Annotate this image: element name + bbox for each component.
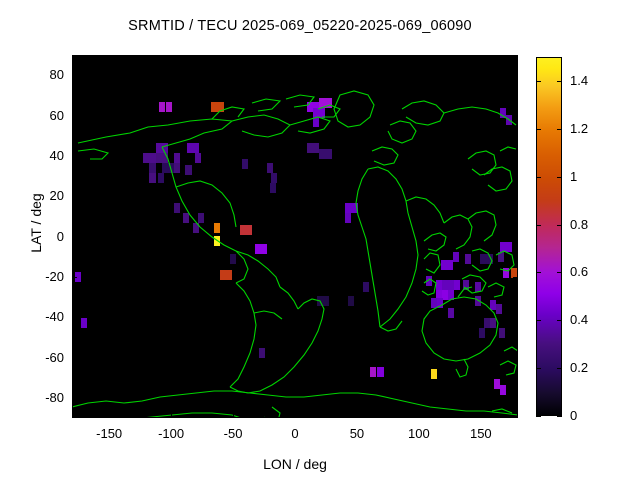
x-tick [171,413,172,418]
y-tick [72,317,77,318]
colorbar-tick [536,177,541,178]
y-tick [513,116,518,117]
y-tick [513,277,518,278]
y-tick [513,317,518,318]
y-tick [513,358,518,359]
colorbar-tick [536,81,541,82]
x-tick [295,413,296,418]
y-tick [72,116,77,117]
colorbar-tick-label: 0.2 [570,360,588,375]
colorbar-tick [536,416,541,417]
y-tick-label: -40 [18,309,64,324]
y-tick-label: 20 [18,188,64,203]
colorbar-tick [557,177,562,178]
colorbar-tick [557,81,562,82]
y-tick [513,75,518,76]
y-tick [72,156,77,157]
colorbar-tick [557,225,562,226]
y-tick [513,156,518,157]
coastline-layer [72,55,518,418]
x-tick [109,413,110,418]
colorbar-tick-label: 0.6 [570,264,588,279]
colorbar-tick-label: 0.4 [570,312,588,327]
y-tick [513,196,518,197]
colorbar-gradient [536,57,562,416]
chart-title: SRMTID / TECU 2025-069_05220-2025-069_06… [0,18,600,34]
y-tick [513,398,518,399]
x-tick [419,55,420,60]
y-tick [72,358,77,359]
colorbar-tick [557,272,562,273]
colorbar-tick [536,225,541,226]
colorbar-tick [536,320,541,321]
colorbar-tick-label: 1.2 [570,121,588,136]
colorbar-tick-label: 0 [570,408,577,423]
x-tick-label: 50 [327,426,387,441]
colorbar-tick-label: 1.4 [570,73,588,88]
colorbar-tick [536,272,541,273]
y-tick-label: -80 [18,390,64,405]
x-tick-label: 100 [389,426,449,441]
map-plot-area [72,55,518,418]
x-tick [295,55,296,60]
y-tick-label: 40 [18,148,64,163]
colorbar-tick [557,320,562,321]
y-tick [72,75,77,76]
figure-root: SRMTID / TECU 2025-069_05220-2025-069_06… [0,0,640,480]
colorbar-tick-label: 1 [570,169,577,184]
y-axis-title: LAT / deg [28,163,44,283]
x-axis-title: LON / deg [72,456,518,472]
y-tick-label: 80 [18,67,64,82]
y-tick [72,398,77,399]
colorbar-tick [536,129,541,130]
x-tick [481,413,482,418]
colorbar-tick [557,368,562,369]
y-tick-label: -20 [18,269,64,284]
x-tick [357,55,358,60]
x-tick-label: -150 [79,426,139,441]
y-tick [72,237,77,238]
colorbar-tick [536,368,541,369]
x-tick [171,55,172,60]
y-tick [72,277,77,278]
x-tick [233,55,234,60]
y-tick-label: 0 [18,229,64,244]
y-tick-label: -60 [18,350,64,365]
y-tick-label: 60 [18,108,64,123]
colorbar-tick-label: 0.8 [570,217,588,232]
x-tick-label: 0 [265,426,325,441]
x-tick [481,55,482,60]
y-tick [513,237,518,238]
x-tick-label: -100 [141,426,201,441]
x-tick [109,55,110,60]
colorbar-tick [557,129,562,130]
x-tick [357,413,358,418]
y-tick [72,196,77,197]
x-tick-label: 150 [451,426,511,441]
colorbar-tick [557,416,562,417]
x-tick [233,413,234,418]
x-tick [419,413,420,418]
x-tick-label: -50 [203,426,263,441]
